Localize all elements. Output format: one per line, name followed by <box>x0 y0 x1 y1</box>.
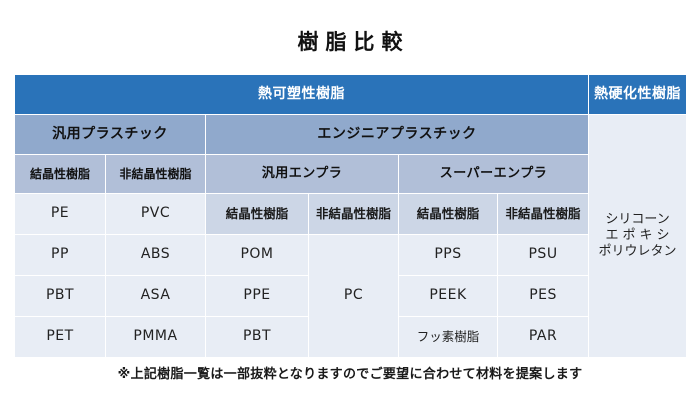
cell-general-eng-crystalline-3: PBT <box>206 317 309 358</box>
page-title: 樹脂比較 <box>0 0 700 54</box>
header-general-engpla: 汎用エンプラ <box>206 155 399 194</box>
footnote: ※上記樹脂一覧は一部抜粋となりますのでご要望に合わせて材料を提案します <box>0 363 700 382</box>
thermoset-item-silicone: シリコーン <box>589 212 686 228</box>
header-row-tier3: 結晶性樹脂 非結晶性樹脂 汎用エンプラ スーパーエンプラ <box>15 155 687 194</box>
cell-commodity-crystalline-3: PBT <box>15 276 106 317</box>
header-super-eng-crystalline: 結晶性樹脂 <box>399 194 498 235</box>
header-engineering-plastic: エンジニアプラスチック <box>206 115 589 155</box>
cell-super-eng-amorphous-2: PES <box>498 276 589 317</box>
header-row-tier2: 汎用プラスチック エンジニアプラスチック シリコーン エポキシ ポリウレタン <box>15 115 687 155</box>
cell-general-eng-crystalline-2: PPE <box>206 276 309 317</box>
cell-general-eng-amorphous-1: PC <box>309 235 399 358</box>
cell-commodity-crystalline-4: PET <box>15 317 106 358</box>
cell-general-eng-crystalline-1: POM <box>206 235 309 276</box>
thermoset-item-polyurethane: ポリウレタン <box>589 244 686 260</box>
thermoset-item-epoxy: エポキシ <box>589 228 686 244</box>
cell-commodity-amorphous-4: PMMA <box>106 317 206 358</box>
cell-super-eng-crystalline-1: PPS <box>399 235 498 276</box>
resin-comparison-table: 熱可塑性樹脂 熱硬化性樹脂 汎用プラスチック エンジニアプラスチック シリコーン… <box>14 74 687 358</box>
header-thermoset: 熱硬化性樹脂 <box>589 75 687 115</box>
resin-comparison-page: 樹脂比較 熱可塑性樹脂 熱硬化性樹脂 汎用プラスチック <box>0 0 700 420</box>
header-thermoplastic: 熱可塑性樹脂 <box>15 75 589 115</box>
header-super-eng-amorphous: 非結晶性樹脂 <box>498 194 589 235</box>
resin-comparison-table-wrap: 熱可塑性樹脂 熱硬化性樹脂 汎用プラスチック エンジニアプラスチック シリコーン… <box>14 74 686 358</box>
header-commodity-amorphous: 非結晶性樹脂 <box>106 155 206 194</box>
header-super-engpla: スーパーエンプラ <box>399 155 589 194</box>
cell-commodity-crystalline-2: PP <box>15 235 106 276</box>
table-row: PP ABS POM PC PPS PSU <box>15 235 687 276</box>
header-general-eng-amorphous: 非結晶性樹脂 <box>309 194 399 235</box>
cell-commodity-crystalline-1: PE <box>15 194 106 235</box>
header-commodity-plastic: 汎用プラスチック <box>15 115 206 155</box>
header-commodity-crystalline: 結晶性樹脂 <box>15 155 106 194</box>
cell-super-eng-crystalline-3: フッ素樹脂 <box>399 317 498 358</box>
table-row: PE PVC 結晶性樹脂 非結晶性樹脂 結晶性樹脂 非結晶性樹脂 <box>15 194 687 235</box>
cell-super-eng-crystalline-2: PEEK <box>399 276 498 317</box>
cell-super-eng-amorphous-3: PAR <box>498 317 589 358</box>
cell-super-eng-amorphous-1: PSU <box>498 235 589 276</box>
cell-commodity-amorphous-3: ASA <box>106 276 206 317</box>
thermoset-column-cell: シリコーン エポキシ ポリウレタン <box>589 115 687 358</box>
header-row-tier1: 熱可塑性樹脂 熱硬化性樹脂 <box>15 75 687 115</box>
header-general-eng-crystalline: 結晶性樹脂 <box>206 194 309 235</box>
cell-commodity-amorphous-1: PVC <box>106 194 206 235</box>
cell-commodity-amorphous-2: ABS <box>106 235 206 276</box>
